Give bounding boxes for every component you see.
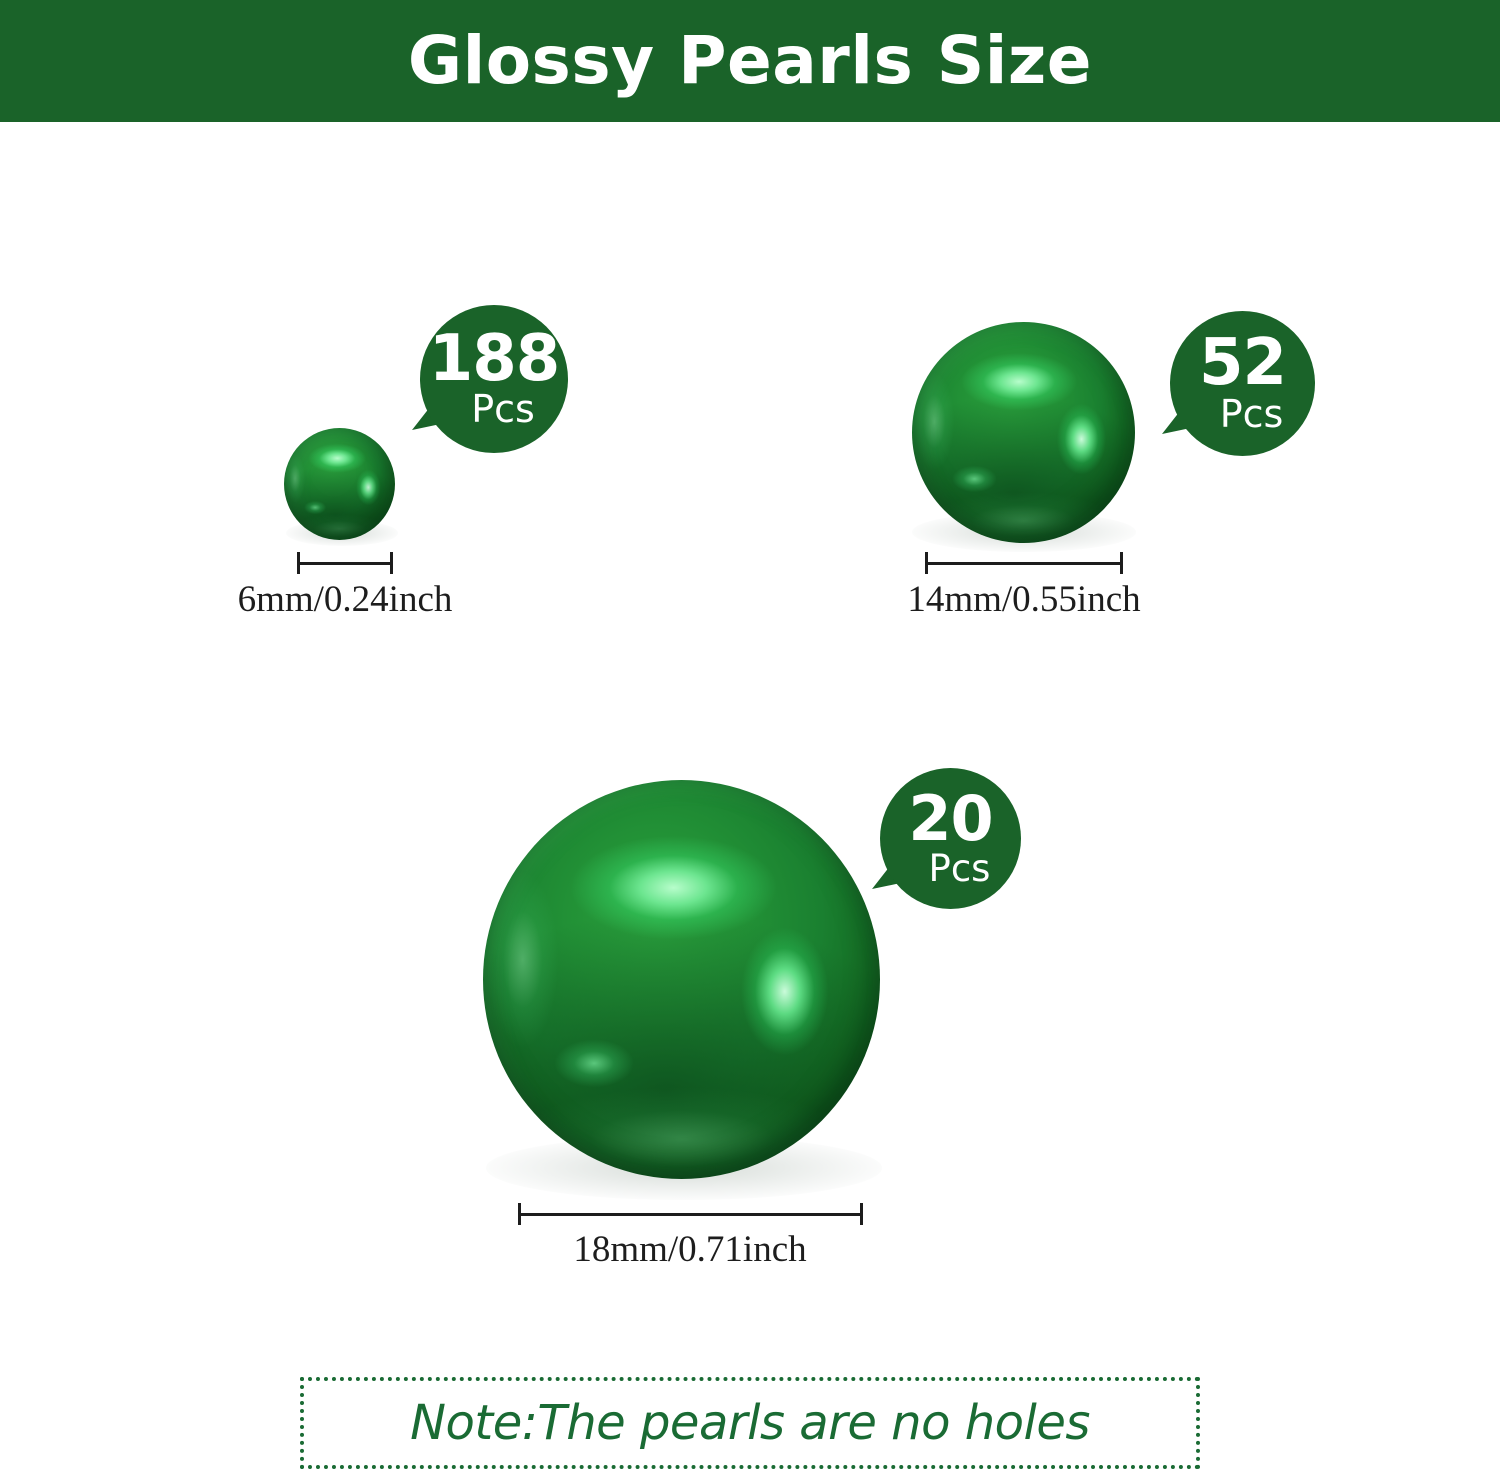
pearl-unit-medium: Pcs	[1220, 395, 1284, 433]
note-box: Note:The pearls are no holes	[300, 1377, 1200, 1469]
pearl-sphere-large	[483, 780, 880, 1179]
pearl-group-large: 20 Pcs 18mm/0.71inch	[0, 0, 1100, 1300]
pearl-count-large: 20	[908, 790, 992, 847]
pearl-count-medium: 52	[1199, 334, 1286, 393]
bubble-body-medium: 52 Pcs	[1170, 311, 1315, 456]
note-text: Note:The pearls are no holes	[410, 1395, 1090, 1451]
callout-bubble-large: 20 Pcs	[880, 768, 1021, 909]
callout-bubble-medium: 52 Pcs	[1170, 311, 1315, 456]
bubble-body-large: 20 Pcs	[880, 768, 1021, 909]
pearl-unit-large: Pcs	[929, 850, 991, 887]
pearl-size-label-large: 18mm/0.71inch	[540, 1228, 840, 1271]
